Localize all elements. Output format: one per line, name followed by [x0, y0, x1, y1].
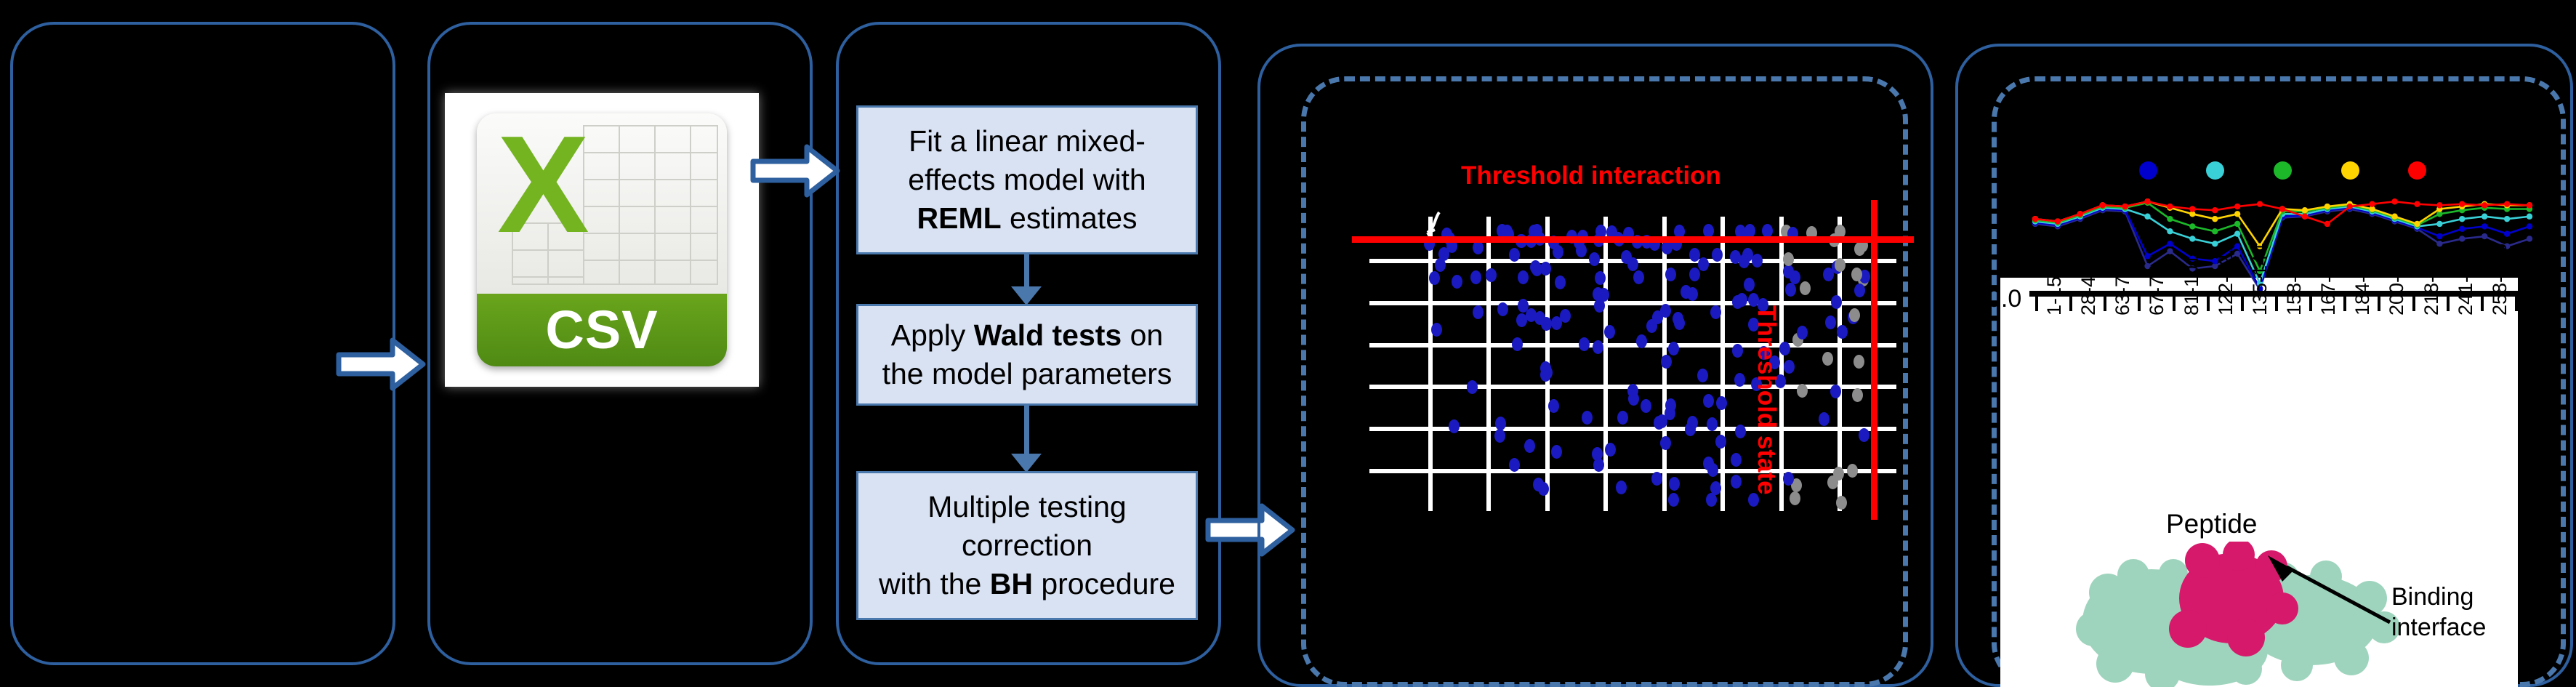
x-axis-tick [2378, 297, 2380, 311]
volcano-data-point [1819, 412, 1830, 426]
peptide-data-point [2302, 207, 2308, 213]
volcano-data-point [1538, 482, 1549, 496]
peptide-data-point [2279, 206, 2285, 212]
y-axis-tick-label: 0.0 [1987, 285, 2021, 313]
sbox2-pre: Apply [891, 318, 974, 352]
x-axis-tick [2069, 297, 2072, 311]
peptide-data-point [2459, 226, 2465, 232]
volcano-data-point [1783, 252, 1794, 266]
volcano-data-point [1712, 248, 1723, 262]
peptide-data-point [2325, 221, 2330, 227]
x-axis-tick-label: 63-73 [2112, 265, 2134, 316]
peptide-data-point [2325, 204, 2330, 209]
binding-label-line2: interface [2391, 614, 2486, 641]
peptide-data-point [2234, 221, 2240, 227]
peptide-data-point [2482, 233, 2487, 239]
peptide-data-point [2167, 241, 2173, 246]
volcano-data-point [1518, 270, 1529, 284]
volcano-data-point [1669, 477, 1680, 491]
csv-label-text: CSV [477, 294, 727, 366]
x-axis-line [2029, 291, 2518, 297]
x-axis-tick-label: 122-129 [2215, 244, 2237, 316]
volcano-plot-canvas [1369, 217, 1896, 511]
volcano-data-point [1681, 285, 1691, 299]
volcano-data-point [1859, 428, 1869, 442]
x-axis-tick-label: 81-101 [2181, 254, 2203, 316]
volcano-data-point [1576, 244, 1587, 257]
x-axis-tick-label: 258-266 [2489, 244, 2511, 316]
peptide-data-point [2212, 216, 2218, 222]
volcano-data-point [1823, 268, 1834, 281]
peptide-data-point [2122, 204, 2128, 209]
peptide-data-point [2414, 221, 2420, 227]
volcano-data-point [1784, 360, 1795, 374]
x-axis-title: Peptide [2166, 509, 2258, 539]
volcano-data-point [1660, 304, 1671, 318]
peptide-data-point [2032, 216, 2038, 222]
volcano-data-point [1748, 493, 1759, 507]
threshold-state-line [1871, 200, 1877, 520]
volcano-data-point [1660, 436, 1671, 450]
peptide-data-point [2167, 204, 2173, 209]
binding-interface-label: Binding interface [2391, 582, 2508, 643]
step-box-mixed-model: Fit a linear mixed- effects model with R… [856, 105, 1198, 254]
excel-x-glyph: X [497, 119, 589, 250]
peptide-data-point [2527, 214, 2532, 220]
x-axis-tick-label: 28-44 [2077, 265, 2100, 316]
sbox1-line3: estimates [1002, 201, 1138, 235]
peptide-data-point [2234, 204, 2240, 209]
peptide-data-point [2167, 248, 2173, 254]
peptide-data-point [2144, 198, 2150, 204]
volcano-data-point [1494, 429, 1505, 443]
sbox3-line3post: procedure [1033, 567, 1175, 600]
volcano-data-point [1452, 275, 1462, 289]
volcano-data-point [1593, 340, 1603, 354]
volcano-data-point [1633, 270, 1644, 284]
threshold-interaction-line [1352, 236, 1914, 243]
connector-arrowhead-2-icon [1011, 454, 1042, 473]
peptide-data-point [2459, 216, 2465, 222]
volcano-data-point [1854, 284, 1865, 297]
volcano-data-point [1668, 342, 1679, 355]
x-axis-tick [2447, 297, 2450, 311]
volcano-data-point [1449, 419, 1460, 433]
volcano-data-point [1837, 325, 1848, 339]
volcano-data-point [1849, 308, 1860, 322]
threshold-interaction-label: Threshold interaction [1461, 161, 1721, 190]
peptide-data-point [2189, 206, 2195, 212]
volcano-data-point [1790, 491, 1800, 505]
volcano-data-point [1512, 337, 1523, 351]
volcano-data-point [1797, 326, 1808, 340]
volcano-data-point [1822, 352, 1833, 366]
volcano-data-point [1716, 396, 1727, 410]
peptide-data-point [2436, 221, 2442, 227]
x-axis-tick [2515, 297, 2518, 311]
volcano-data-point [1435, 258, 1446, 272]
volcano-data-point [1783, 472, 1794, 486]
x-axis-tick [2241, 297, 2244, 311]
peptide-data-point [2234, 230, 2240, 236]
volcano-data-point [1689, 268, 1700, 281]
peptide-data-point [2436, 233, 2442, 239]
volcano-data-point [1497, 302, 1508, 316]
x-axis-tick [2173, 297, 2175, 311]
volcano-data-point [1731, 453, 1742, 467]
volcano-data-point [1582, 411, 1593, 425]
x-axis-tick [2138, 297, 2141, 311]
x-axis-tick [2207, 297, 2210, 311]
volcano-data-point [1703, 394, 1714, 408]
volcano-data-point [1685, 422, 1696, 436]
volcano-data-point [1797, 384, 1808, 398]
volcano-data-point [1790, 270, 1800, 284]
volcano-data-point [1735, 425, 1746, 438]
x-axis-tick-label: 184-199 [2351, 244, 2374, 316]
volcano-data-point [1836, 496, 1847, 510]
volcano-data-point [1467, 380, 1478, 394]
volcano-data-point [1785, 283, 1796, 297]
peptide-data-point [2527, 223, 2532, 229]
step-box-wald-tests: Apply Wald tests on the model parameters [856, 304, 1198, 406]
volcano-data-point [1641, 399, 1651, 413]
volcano-data-point [1661, 355, 1672, 369]
sbox3-line2: correction [962, 529, 1092, 562]
flow-arrow-2-icon [750, 142, 841, 199]
volcano-data-point [1847, 464, 1858, 478]
volcano-data-point [1616, 481, 1627, 494]
peptide-data-point [2257, 201, 2263, 206]
peptide-data-point [2100, 202, 2106, 208]
volcano-data-point [1531, 262, 1542, 276]
peptide-data-point [2369, 201, 2375, 206]
volcano-data-point [1710, 481, 1721, 495]
volcano-data-point [1553, 245, 1563, 259]
x-axis-tick [2343, 297, 2346, 311]
flow-arrow-1-icon [336, 336, 427, 393]
volcano-data-point [1707, 463, 1718, 477]
peptide-data-point [2055, 218, 2061, 224]
volcano-data-point [1830, 385, 1841, 398]
volcano-data-point [1697, 369, 1708, 382]
volcano-gridline-h [1369, 301, 1896, 305]
x-axis-tick [2412, 297, 2415, 311]
peptide-data-point [2459, 236, 2465, 241]
connector-arrowhead-1-icon [1011, 286, 1042, 305]
volcano-data-point [1579, 337, 1590, 351]
x-axis-tick [2104, 297, 2106, 311]
peptide-data-point [2212, 207, 2218, 213]
csv-label-band: CSV [477, 294, 727, 366]
volcano-data-point [1710, 305, 1721, 319]
peptide-data-point [2144, 214, 2150, 220]
x-axis-tick-label: 277-284 [2523, 244, 2545, 316]
peptide-data-point [2482, 202, 2487, 208]
volcano-data-point [1665, 406, 1675, 420]
volcano-data-point [1636, 334, 1647, 348]
peptide-data-point [2459, 201, 2465, 206]
x-axis-tick [2309, 297, 2312, 311]
sbox1-bold: REML [917, 201, 1002, 235]
volcano-data-point [1605, 443, 1616, 457]
volcano-gridline-h [1369, 343, 1896, 347]
volcano-data-point [1853, 355, 1864, 369]
x-axis-tick-label: 241-257 [2455, 244, 2477, 316]
sbox2-bold: Wald tests [974, 318, 1122, 352]
volcano-data-point [1627, 384, 1638, 398]
binding-label-line1: Binding [2391, 583, 2474, 611]
peptide-data-point [2436, 202, 2442, 208]
volcano-data-point [1827, 475, 1838, 489]
peptide-data-point [2189, 223, 2195, 229]
peptide-data-point [2504, 201, 2510, 206]
volcano-data-point [1431, 323, 1442, 337]
x-axis-tick [2035, 297, 2038, 311]
x-axis-tick-label: 218-237 [2420, 244, 2443, 316]
peptide-data-point [2414, 201, 2420, 206]
volcano-data-point [1651, 472, 1662, 486]
peptide-data-point [2167, 216, 2173, 222]
peptide-data-point [2302, 214, 2308, 220]
volcano-data-point [1668, 493, 1679, 507]
peptide-legend-dot [2274, 161, 2292, 180]
volcano-data-point [1595, 271, 1606, 285]
peptide-data-point [2527, 202, 2532, 208]
x-axis-tick-label: 167-180 [2317, 244, 2340, 316]
sbox2-post: on [1122, 318, 1163, 352]
peptide-data-point [2234, 211, 2240, 217]
threshold-state-label: Threshold state [1752, 305, 1781, 495]
peptide-data-point [2144, 253, 2150, 259]
volcano-data-point [1534, 311, 1545, 325]
sbox3-line1: Multiple testing [927, 490, 1126, 523]
volcano-data-point [1589, 252, 1600, 266]
volcano-data-point [1524, 439, 1535, 453]
volcano-data-point [1551, 316, 1562, 330]
peptide-data-point [2527, 236, 2532, 241]
peptide-data-point [2167, 228, 2173, 234]
x-axis-tick-label: 67-75 [2146, 265, 2168, 316]
volcano-data-point [1752, 254, 1763, 268]
volcano-data-point [1744, 278, 1755, 292]
volcano-data-point [1555, 276, 1566, 289]
peptide-data-point [2347, 204, 2353, 209]
volcano-gridline-h [1369, 469, 1896, 473]
volcano-data-point [1825, 316, 1836, 329]
peptide-data-point [2212, 228, 2218, 234]
sbox1-line1: Fit a linear mixed- [909, 124, 1146, 158]
volcano-data-point [1548, 399, 1559, 413]
volcano-data-point [1509, 248, 1520, 262]
sbox2-line2: the model parameters [882, 357, 1172, 390]
volcano-data-point [1800, 281, 1811, 295]
volcano-data-point [1473, 305, 1484, 319]
sbox3-bold: BH [990, 567, 1033, 600]
peptide-data-point [2504, 216, 2510, 222]
connector-line-1 [1024, 254, 1029, 289]
binding-interface-arrow-icon [2261, 553, 2399, 632]
peptide-data-point [2504, 230, 2510, 236]
volcano-data-point [1731, 475, 1742, 489]
volcano-data-point [1698, 257, 1709, 271]
x-axis-tick [2275, 297, 2278, 311]
csv-file-icon: X CSV [445, 93, 759, 387]
x-axis-tick [2481, 297, 2484, 311]
volcano-data-point [1540, 368, 1551, 382]
csv-sheet-area: X [477, 113, 727, 294]
x-axis-tick-label: 158-166 [2283, 244, 2306, 316]
volcano-data-point [1835, 258, 1846, 272]
volcano-data-point [1592, 447, 1603, 461]
csv-tile: X CSV [477, 113, 727, 366]
sbox1-line2: effects model with [908, 163, 1146, 196]
volcano-data-point [1551, 445, 1562, 459]
volcano-data-point [1604, 325, 1615, 339]
peptide-data-point [2391, 198, 2397, 204]
connector-line-2 [1024, 406, 1029, 457]
peptide-data-point [2482, 223, 2487, 229]
volcano-data-point [1852, 388, 1863, 402]
volcano-data-point [1715, 435, 1726, 449]
volcano-data-point [1495, 417, 1506, 430]
peptide-legend-dot [2341, 161, 2359, 180]
volcano-data-point [1486, 268, 1497, 282]
x-axis-tick-label: 200-214 [2386, 244, 2408, 316]
volcano-data-point [1665, 268, 1676, 281]
sbox3-line3pre: with the [879, 567, 990, 600]
peptide-legend-dot [2139, 161, 2157, 180]
volcano-data-point [1627, 257, 1638, 271]
volcano-data-point [1732, 295, 1743, 309]
peptide-data-point [2077, 211, 2083, 217]
step-box-multiple-testing: Multiple testing correction with the BH … [856, 471, 1198, 620]
volcano-data-point [1732, 344, 1743, 358]
peptide-data-point [2391, 214, 2397, 220]
volcano-data-point [1429, 271, 1440, 285]
volcano-data-point [1617, 411, 1628, 425]
peptide-data-point [2189, 236, 2195, 241]
volcano-data-point [1470, 270, 1481, 284]
peptide-data-point [2482, 214, 2487, 220]
x-axis-tick-label: 1-15 [2043, 276, 2066, 316]
x-axis-tick-label: 135-144 [2249, 244, 2271, 316]
csv-grid-main [583, 125, 718, 285]
